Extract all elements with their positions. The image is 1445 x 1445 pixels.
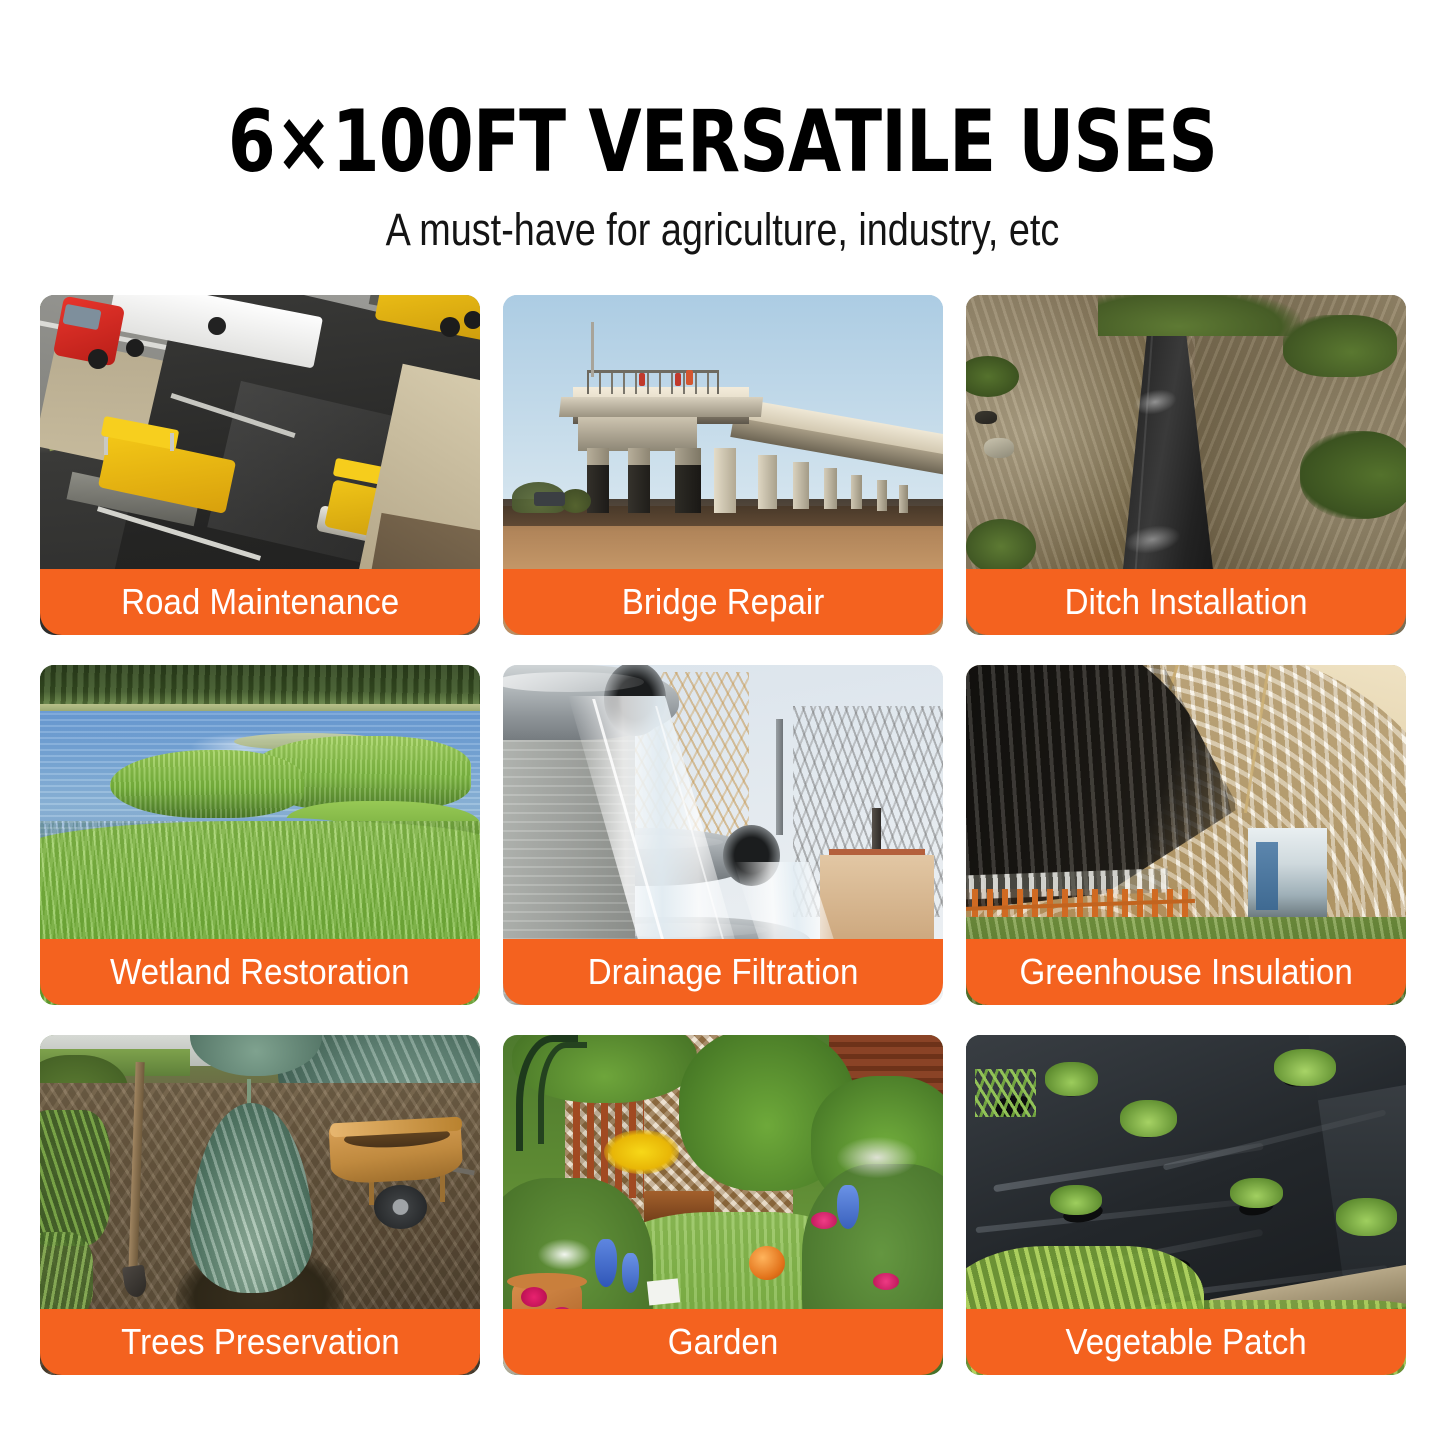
page-title: 6×100FT VERSATILE USES <box>145 96 1301 188</box>
card-label-band: Vegetable Patch <box>966 1309 1406 1375</box>
use-case-label: Ditch Installation <box>1064 582 1307 622</box>
card-label-band: Bridge Repair <box>503 569 943 635</box>
infographic-page: 6×100FT VERSATILE USES A must-have for a… <box>0 0 1445 1445</box>
use-case-card-wetland-restoration[interactable]: Wetland Restoration <box>40 665 480 1005</box>
header: 6×100FT VERSATILE USES A must-have for a… <box>0 96 1445 256</box>
page-subtitle: A must-have for agriculture, industry, e… <box>116 204 1330 256</box>
use-case-label: Vegetable Patch <box>1065 1322 1306 1362</box>
card-label-band: Garden <box>503 1309 943 1375</box>
use-case-card-ditch-installation[interactable]: Ditch Installation <box>966 295 1406 635</box>
use-case-label: Garden <box>668 1322 778 1362</box>
use-case-card-road-maintenance[interactable]: Road Maintenance <box>40 295 480 635</box>
use-case-card-drainage-filtration[interactable]: Drainage Filtration <box>503 665 943 1005</box>
use-case-label: Wetland Restoration <box>110 952 409 992</box>
card-label-band: Road Maintenance <box>40 569 480 635</box>
card-label-band: Ditch Installation <box>966 569 1406 635</box>
use-case-card-greenhouse-insulation[interactable]: Greenhouse Insulation <box>966 665 1406 1005</box>
use-case-label: Drainage Filtration <box>588 952 859 992</box>
use-case-label: Greenhouse Insulation <box>1019 952 1352 992</box>
use-case-label: Road Maintenance <box>121 582 399 622</box>
use-case-card-vegetable-patch[interactable]: Vegetable Patch <box>966 1035 1406 1375</box>
use-case-label: Trees Preservation <box>121 1322 400 1362</box>
card-label-band: Wetland Restoration <box>40 939 480 1005</box>
use-case-card-trees-preservation[interactable]: Trees Preservation <box>40 1035 480 1375</box>
use-case-card-bridge-repair[interactable]: Bridge Repair <box>503 295 943 635</box>
card-label-band: Drainage Filtration <box>503 939 943 1005</box>
use-case-label: Bridge Repair <box>622 582 825 622</box>
use-case-grid: Road Maintenance Bridge Repair <box>40 295 1406 1375</box>
use-case-card-garden[interactable]: Garden <box>503 1035 943 1375</box>
card-label-band: Trees Preservation <box>40 1309 480 1375</box>
card-label-band: Greenhouse Insulation <box>966 939 1406 1005</box>
